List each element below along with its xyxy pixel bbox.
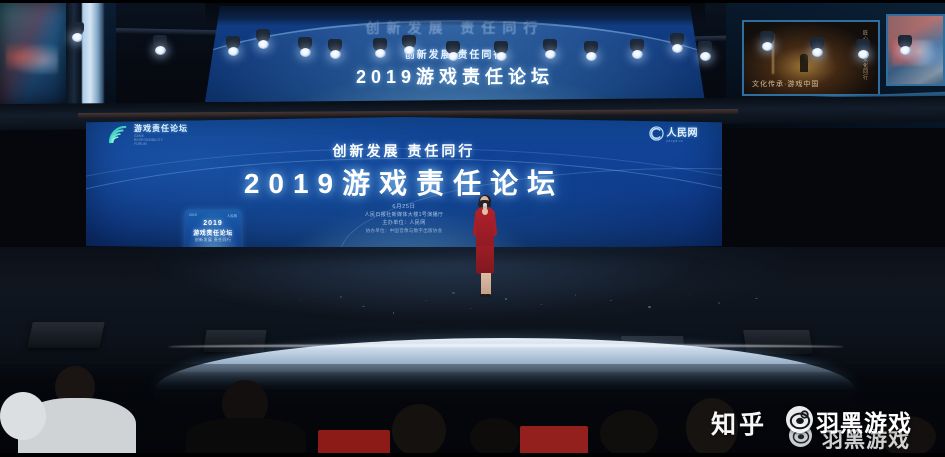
floor-light-speck bbox=[362, 306, 365, 307]
brand-avatar: 羽 bbox=[786, 406, 813, 433]
floor-light-speck bbox=[648, 306, 651, 308]
spotlight-icon bbox=[900, 46, 911, 55]
art-figure bbox=[800, 54, 808, 72]
floor-light-speck bbox=[540, 304, 543, 305]
spotlight-icon bbox=[545, 50, 556, 59]
spotlight-icon bbox=[812, 48, 823, 57]
podium-sign-header: 2019 人民网 bbox=[189, 213, 237, 218]
floor-light-speck bbox=[610, 300, 612, 301]
audience-head bbox=[0, 392, 46, 440]
floor-reflection bbox=[150, 260, 710, 320]
event-date: 6月25日 bbox=[86, 203, 722, 211]
letterbox-top bbox=[0, 0, 945, 3]
podium-sign-year-small: 2019 bbox=[189, 213, 197, 218]
left-wall-display bbox=[0, 2, 66, 106]
spotlight-icon bbox=[300, 48, 311, 57]
brand-watermark: 羽黑游戏 bbox=[816, 404, 912, 438]
spotlight-icon bbox=[404, 46, 415, 55]
podium-sign-subtitle: 创新发展 责任同行 bbox=[185, 237, 241, 242]
spotlight-icon bbox=[672, 44, 683, 53]
stage-monitor bbox=[203, 330, 266, 352]
host-dress-skirt bbox=[476, 246, 494, 274]
zhihu-watermark: 知乎 bbox=[711, 405, 767, 441]
stage-monitor bbox=[743, 330, 813, 354]
spotlight-icon bbox=[762, 42, 773, 51]
podium-sign-org: 人民网 bbox=[227, 213, 237, 218]
left-pillar bbox=[66, 0, 82, 118]
stage-monitor bbox=[27, 322, 105, 348]
riser-highlight bbox=[168, 344, 844, 347]
floor-light-speck bbox=[300, 300, 301, 301]
right-photo-display bbox=[886, 14, 945, 86]
host-hands bbox=[482, 208, 488, 215]
podium-sign-year: 2019 bbox=[185, 220, 241, 227]
people-cn-label: 人民网 bbox=[667, 124, 699, 139]
floor-light-speck bbox=[393, 312, 394, 314]
audience-head bbox=[392, 404, 446, 457]
host-shoe bbox=[485, 294, 491, 297]
spotlight-icon bbox=[72, 33, 83, 42]
main-led-screen: 游戏责任论坛 GAME RESPONSIBILITY FORUM 人民网 peo… bbox=[86, 117, 722, 250]
floor-light-speck bbox=[470, 308, 471, 309]
weibo-eye-icon: 羽 bbox=[789, 409, 811, 431]
audience-head bbox=[470, 418, 520, 457]
floor-light-speck bbox=[340, 296, 342, 298]
spotlight-icon bbox=[586, 52, 597, 61]
event-venue: 人民日报社新媒体大楼1号演播厅 bbox=[86, 211, 722, 219]
podium-sign-title: 游戏责任论坛 bbox=[185, 228, 241, 237]
audience-head bbox=[600, 410, 658, 457]
host-leg bbox=[486, 273, 491, 295]
screenshot-root: 创新发展 责任同行 创新发展 责任同行 2019游戏责任论坛 匠心传承 文化同行… bbox=[0, 0, 945, 457]
audience-body bbox=[186, 418, 306, 457]
host-leg bbox=[481, 273, 486, 295]
spotlight-icon bbox=[496, 52, 507, 61]
spotlight-icon bbox=[155, 46, 166, 55]
spotlight-icon bbox=[228, 47, 239, 56]
floor-light-speck bbox=[718, 302, 720, 304]
spotlight-icon bbox=[330, 50, 341, 59]
floor-light-speck bbox=[425, 300, 427, 301]
main-screen-meta: 6月25日 人民日报社新媒体大楼1号演播厅 主办单位：人民网 协办单位：中国音像… bbox=[86, 203, 722, 235]
spotlight-icon bbox=[258, 40, 269, 49]
right-display-bottom-text: 文化传承·游戏中国 bbox=[752, 79, 819, 89]
floor-light-speck bbox=[755, 298, 758, 299]
spotlight-icon bbox=[632, 50, 643, 59]
main-screen-title: 2019游戏责任论坛 bbox=[86, 162, 722, 202]
stage-host bbox=[470, 196, 500, 298]
left-light-column bbox=[82, 0, 104, 116]
people-cn-icon bbox=[649, 126, 664, 141]
floor-light-speck bbox=[452, 292, 455, 294]
upper-banner-title: 2019游戏责任论坛 bbox=[205, 63, 705, 89]
floor-light-speck bbox=[575, 294, 576, 296]
floor-light-speck bbox=[505, 298, 507, 300]
floor-light-speck bbox=[690, 294, 691, 295]
spotlight-icon bbox=[858, 50, 869, 59]
svg-text:羽: 羽 bbox=[802, 412, 806, 417]
spotlight-icon bbox=[700, 52, 711, 61]
truss-shadow bbox=[205, 0, 705, 26]
spotlight-icon bbox=[375, 49, 386, 58]
letterbox-bottom bbox=[0, 453, 945, 457]
spotlight-icon bbox=[448, 52, 459, 61]
event-support: 协办单位：中国音像与数字出版协会 bbox=[86, 227, 722, 235]
forum-logo-cn: 游戏责任论坛 bbox=[134, 123, 188, 134]
main-screen-subtitle: 创新发展 责任同行 bbox=[86, 141, 722, 161]
event-hosts: 主办单位：人民网 bbox=[86, 219, 722, 227]
